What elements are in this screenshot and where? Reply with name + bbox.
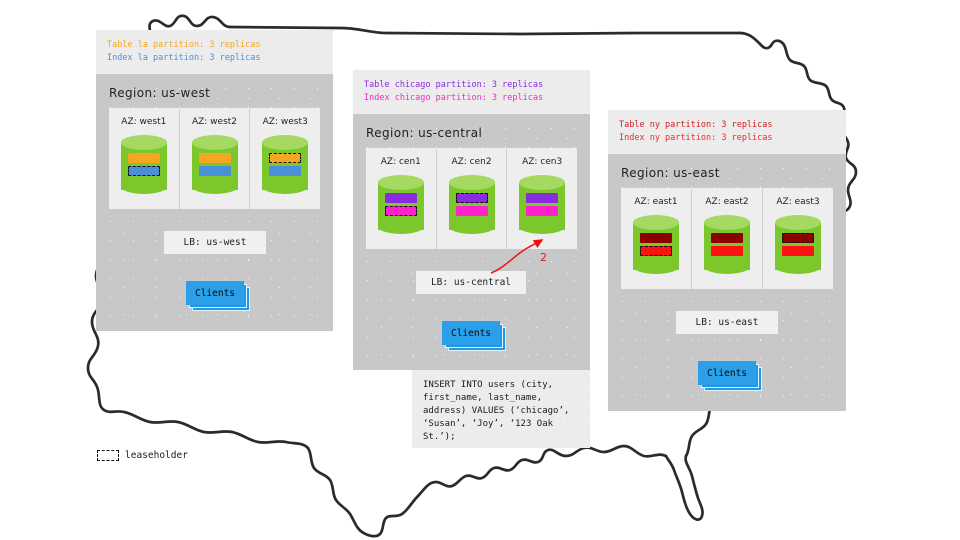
partition-header-us-central: Table chicago partition: 3 replicas Inde… bbox=[353, 70, 590, 114]
node-cylinder[interactable] bbox=[192, 135, 238, 197]
cylinder-bottom bbox=[775, 259, 821, 274]
replica-band-index bbox=[782, 246, 814, 256]
clients-button-us-central[interactable]: Clients bbox=[442, 321, 500, 345]
replica-band-index bbox=[711, 246, 743, 256]
table-partition-label: Table ny partition: 3 replicas bbox=[619, 119, 836, 132]
clients-label: Clients bbox=[186, 281, 244, 305]
replica-band-index bbox=[269, 166, 301, 176]
replica-band-table bbox=[640, 233, 672, 243]
cylinder-bottom bbox=[704, 259, 750, 274]
node-cylinder[interactable] bbox=[121, 135, 167, 197]
cylinder-top bbox=[449, 175, 495, 190]
replica-bands bbox=[192, 153, 238, 179]
cylinder-top bbox=[378, 175, 424, 190]
clients-button-us-west[interactable]: Clients bbox=[186, 281, 244, 305]
replica-bands bbox=[519, 193, 565, 219]
replica-bands bbox=[775, 233, 821, 259]
az-cen3[interactable]: AZ: cen3 bbox=[506, 148, 577, 249]
az-container-us-east: AZ: east1 AZ: east2 bbox=[621, 188, 833, 289]
az-cen2[interactable]: AZ: cen2 bbox=[436, 148, 507, 249]
az-label: AZ: cen2 bbox=[437, 157, 507, 167]
legend-leaseholder: leaseholder bbox=[97, 450, 188, 461]
table-partition-label: Table la partition: 3 replicas bbox=[107, 39, 323, 52]
az-west3[interactable]: AZ: west3 bbox=[249, 108, 320, 209]
cylinder-top bbox=[121, 135, 167, 150]
replica-band-index bbox=[526, 206, 558, 216]
az-label: AZ: east3 bbox=[763, 197, 833, 207]
replica-bands bbox=[633, 233, 679, 259]
node-cylinder[interactable] bbox=[262, 135, 308, 197]
az-west1[interactable]: AZ: west1 bbox=[109, 108, 179, 209]
node-cylinder[interactable] bbox=[775, 215, 821, 277]
replica-bands bbox=[378, 193, 424, 219]
replica-bands bbox=[262, 153, 308, 179]
replica-band-table bbox=[199, 153, 231, 163]
cylinder-bottom bbox=[262, 179, 308, 194]
cylinder-bottom bbox=[449, 219, 495, 234]
dashed-rect-icon bbox=[97, 450, 119, 461]
replica-band-table bbox=[456, 193, 488, 203]
region-title: Region: us-west bbox=[96, 74, 333, 108]
az-label: AZ: west2 bbox=[180, 117, 250, 127]
az-label: AZ: west1 bbox=[109, 117, 179, 127]
clients-label: Clients bbox=[698, 361, 756, 385]
replica-band-index bbox=[385, 206, 417, 216]
replica-band-table bbox=[128, 153, 160, 163]
annotation-step-2: 2 bbox=[540, 251, 547, 264]
replica-band-index bbox=[199, 166, 231, 176]
load-balancer-us-east[interactable]: LB: us-east bbox=[676, 311, 778, 334]
replica-band-table bbox=[711, 233, 743, 243]
node-cylinder[interactable] bbox=[449, 175, 495, 237]
replica-band-index bbox=[640, 246, 672, 256]
cylinder-bottom bbox=[121, 179, 167, 194]
cylinder-bottom bbox=[378, 219, 424, 234]
az-container-us-central: AZ: cen1 AZ: cen2 bbox=[366, 148, 577, 249]
sql-statement-box: INSERT INTO users (city, first_name, las… bbox=[412, 370, 590, 448]
cylinder-top bbox=[262, 135, 308, 150]
replica-bands bbox=[704, 233, 750, 259]
az-container-us-west: AZ: west1 AZ: west2 bbox=[109, 108, 320, 209]
cylinder-top bbox=[704, 215, 750, 230]
region-title: Region: us-east bbox=[608, 154, 846, 188]
partition-header-us-west: Table la partition: 3 replicas Index la … bbox=[96, 30, 333, 74]
cylinder-bottom bbox=[633, 259, 679, 274]
replica-band-table bbox=[526, 193, 558, 203]
clients-label: Clients bbox=[442, 321, 500, 345]
index-partition-label: Index chicago partition: 3 replicas bbox=[364, 92, 580, 105]
node-cylinder[interactable] bbox=[704, 215, 750, 277]
region-title: Region: us-central bbox=[353, 114, 590, 148]
replica-band-index bbox=[456, 206, 488, 216]
cylinder-bottom bbox=[519, 219, 565, 234]
node-cylinder[interactable] bbox=[519, 175, 565, 237]
cylinder-top bbox=[192, 135, 238, 150]
load-balancer-us-west[interactable]: LB: us-west bbox=[164, 231, 266, 254]
replica-band-table bbox=[782, 233, 814, 243]
node-cylinder[interactable] bbox=[633, 215, 679, 277]
az-label: AZ: cen3 bbox=[507, 157, 577, 167]
cylinder-top bbox=[633, 215, 679, 230]
table-partition-label: Table chicago partition: 3 replicas bbox=[364, 79, 580, 92]
clients-button-us-east[interactable]: Clients bbox=[698, 361, 756, 385]
az-east3[interactable]: AZ: east3 bbox=[762, 188, 833, 289]
replica-band-table bbox=[385, 193, 417, 203]
az-east2[interactable]: AZ: east2 bbox=[691, 188, 762, 289]
az-label: AZ: cen1 bbox=[366, 157, 436, 167]
index-partition-label: Index ny partition: 3 replicas bbox=[619, 132, 836, 145]
az-cen1[interactable]: AZ: cen1 bbox=[366, 148, 436, 249]
az-label: AZ: east1 bbox=[621, 197, 691, 207]
cylinder-top bbox=[519, 175, 565, 190]
partition-header-us-east: Table ny partition: 3 replicas Index ny … bbox=[608, 110, 846, 154]
index-partition-label: Index la partition: 3 replicas bbox=[107, 52, 323, 65]
az-label: AZ: east2 bbox=[692, 197, 762, 207]
replica-band-index bbox=[128, 166, 160, 176]
diagram-canvas: Table la partition: 3 replicas Index la … bbox=[0, 0, 960, 540]
az-east1[interactable]: AZ: east1 bbox=[621, 188, 691, 289]
cylinder-bottom bbox=[192, 179, 238, 194]
legend-label: leaseholder bbox=[125, 450, 188, 461]
load-balancer-us-central[interactable]: LB: us-central bbox=[416, 271, 526, 294]
replica-band-table bbox=[269, 153, 301, 163]
node-cylinder[interactable] bbox=[378, 175, 424, 237]
az-label: AZ: west3 bbox=[250, 117, 320, 127]
replica-bands bbox=[449, 193, 495, 219]
sql-statement-text: INSERT INTO users (city, first_name, las… bbox=[423, 379, 579, 444]
replica-bands bbox=[121, 153, 167, 179]
cylinder-top bbox=[775, 215, 821, 230]
az-west2[interactable]: AZ: west2 bbox=[179, 108, 250, 209]
